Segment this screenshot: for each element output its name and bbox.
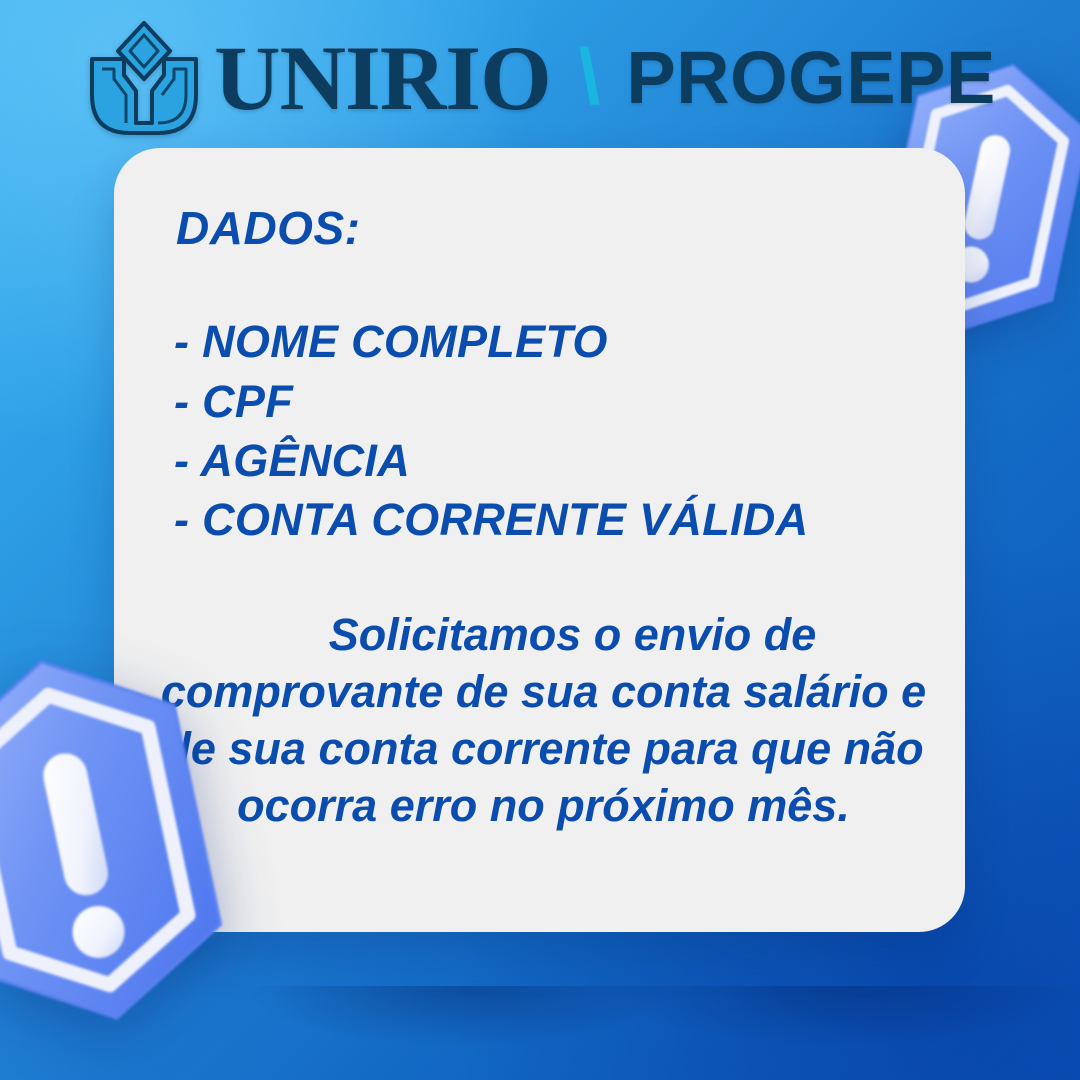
- info-card-content: DADOS: - NOME COMPLETO - CPF - AGÊNCIA -…: [114, 148, 965, 834]
- card-floor-shadow-right: [610, 986, 1080, 1046]
- instruction-message: Solicitamos o envio de comprovante de su…: [154, 606, 933, 835]
- unirio-shield-emblem-icon: [84, 19, 204, 137]
- card-floor-shadow-left: [248, 986, 678, 1046]
- brand-divider: \: [579, 37, 601, 115]
- list-item: - AGÊNCIA: [174, 431, 919, 490]
- brand-subwordmark: PROGEPE: [626, 41, 996, 115]
- dados-heading: DADOS:: [176, 204, 919, 252]
- list-item: - NOME COMPLETO: [174, 312, 919, 371]
- info-card: DADOS: - NOME COMPLETO - CPF - AGÊNCIA -…: [114, 148, 965, 932]
- list-item: - CPF: [174, 372, 919, 431]
- list-item: - CONTA CORRENTE VÁLIDA: [174, 490, 919, 549]
- brand-wordmark: UNIRIO: [214, 32, 550, 124]
- poster-canvas: UNIRIO \ PROGEPE DADOS: - NOME COMPLETO …: [0, 0, 1080, 1080]
- brand-header: UNIRIO \ PROGEPE: [0, 18, 1080, 138]
- required-data-list: - NOME COMPLETO - CPF - AGÊNCIA - CONTA …: [174, 312, 919, 550]
